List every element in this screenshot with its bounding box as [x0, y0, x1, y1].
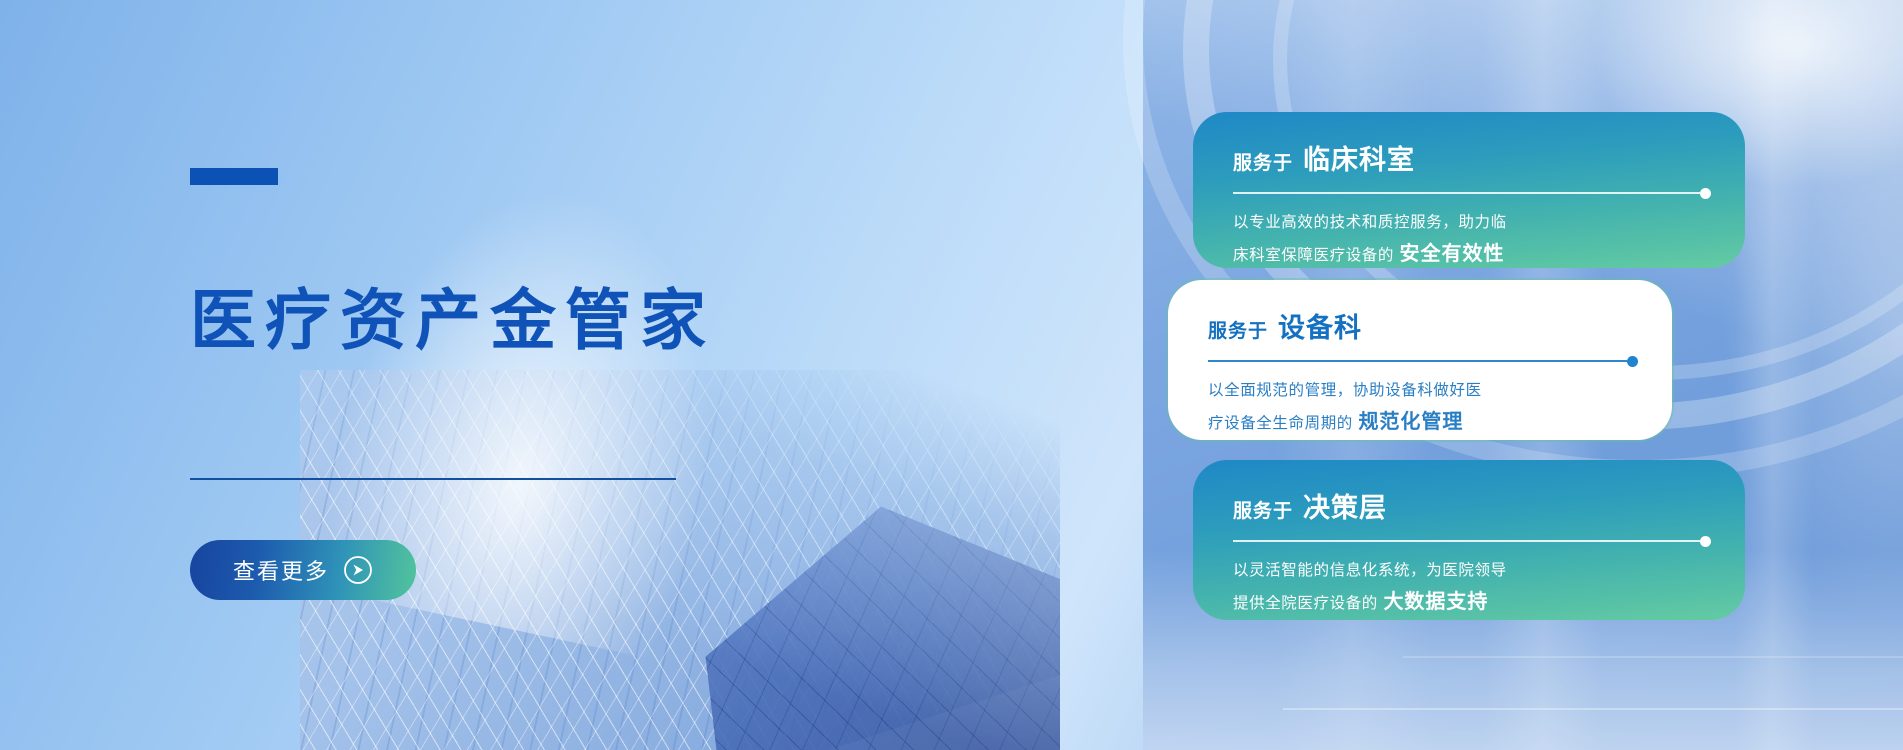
service-card-body: 以专业高效的技术和质控服务，助力临 床科室保障医疗设备的 安全有效性	[1233, 209, 1711, 268]
card-divider	[1233, 536, 1711, 545]
service-card-body-lead: 提供全院医疗设备的	[1233, 594, 1378, 612]
service-card-body-lead: 疗设备全生命周期的	[1208, 414, 1353, 432]
card-divider-dot-icon	[1700, 536, 1711, 547]
service-card-body-line1: 以灵活智能的信息化系统，为医院领导	[1233, 557, 1711, 584]
service-card-decision[interactable]: 服务于 决策层 以灵活智能的信息化系统，为医院领导 提供全院医疗设备的 大数据支…	[1193, 460, 1745, 620]
service-card-body-lead: 床科室保障医疗设备的	[1233, 246, 1394, 264]
service-card-highlight: 安全有效性	[1400, 241, 1505, 265]
service-card-target: 设备科	[1278, 306, 1362, 345]
service-cards-group: 服务于 临床科室 以专业高效的技术和质控服务，助力临 床科室保障医疗设备的 安全…	[0, 0, 1903, 750]
service-card-prefix: 服务于	[1233, 496, 1293, 523]
card-divider-dot-icon	[1700, 188, 1711, 199]
hero-banner: 医疗资产金管家 查看更多 服务于 临床科室 以专业	[0, 0, 1903, 750]
service-card-prefix: 服务于	[1233, 148, 1293, 175]
service-card-equipment[interactable]: 服务于 设备科 以全面规范的管理，协助设备科做好医 疗设备全生命周期的 规范化管…	[1168, 280, 1672, 440]
service-card-body-line2: 疗设备全生命周期的 规范化管理	[1208, 404, 1638, 438]
service-card-body-line1: 以全面规范的管理，协助设备科做好医	[1208, 377, 1638, 404]
service-card-target: 临床科室	[1303, 138, 1415, 177]
service-card-body-line2: 床科室保障医疗设备的 安全有效性	[1233, 236, 1711, 268]
service-card-title: 服务于 临床科室	[1233, 138, 1711, 177]
service-card-target: 决策层	[1303, 486, 1387, 525]
service-card-body: 以全面规范的管理，协助设备科做好医 疗设备全生命周期的 规范化管理	[1208, 377, 1638, 438]
service-card-body-line1: 以专业高效的技术和质控服务，助力临	[1233, 209, 1711, 236]
card-divider-dot-icon	[1627, 356, 1638, 367]
card-divider	[1233, 188, 1711, 197]
service-card-title: 服务于 设备科	[1208, 306, 1638, 345]
card-divider-line	[1233, 540, 1700, 542]
service-card-clinical[interactable]: 服务于 临床科室 以专业高效的技术和质控服务，助力临 床科室保障医疗设备的 安全…	[1193, 112, 1745, 268]
service-card-highlight: 规范化管理	[1358, 409, 1463, 433]
service-card-highlight: 大数据支持	[1383, 589, 1488, 613]
card-divider	[1208, 356, 1638, 365]
service-card-prefix: 服务于	[1208, 316, 1268, 343]
service-card-body: 以灵活智能的信息化系统，为医院领导 提供全院医疗设备的 大数据支持	[1233, 557, 1711, 618]
service-card-title: 服务于 决策层	[1233, 486, 1711, 525]
card-divider-line	[1233, 192, 1700, 194]
card-divider-line	[1208, 360, 1627, 362]
service-card-body-line2: 提供全院医疗设备的 大数据支持	[1233, 584, 1711, 618]
